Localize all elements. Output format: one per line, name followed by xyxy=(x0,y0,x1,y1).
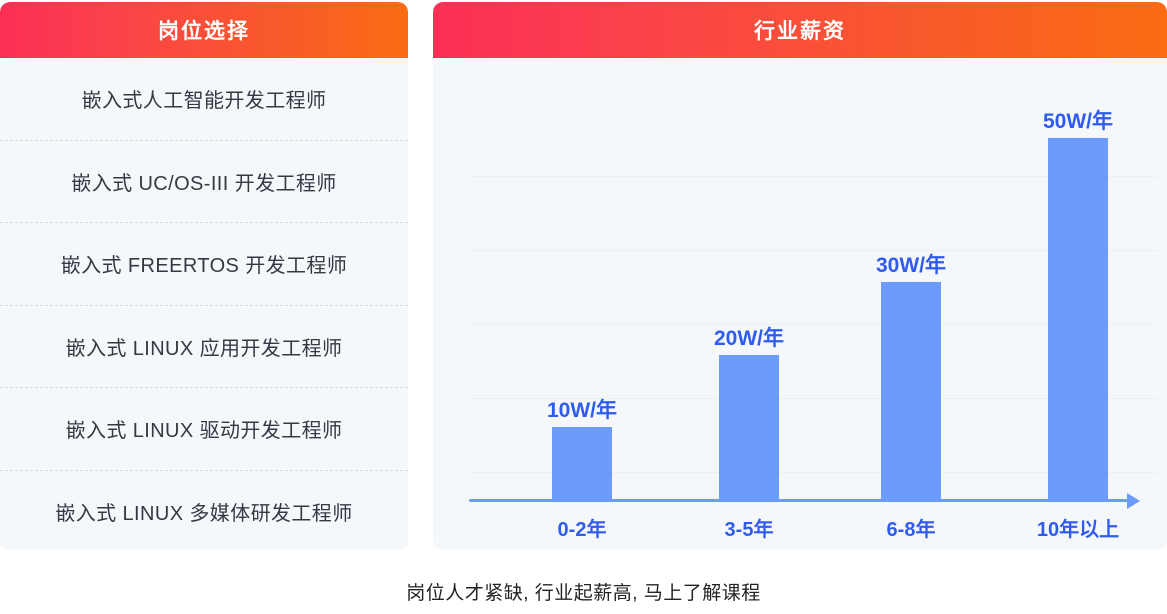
chart-bar[interactable] xyxy=(552,427,612,499)
jobs-panel-title: 岗位选择 xyxy=(158,15,250,45)
x-axis-category-label: 3-5年 xyxy=(674,513,824,542)
bar-value-label: 50W/年 xyxy=(1008,105,1148,135)
job-item-label: 嵌入式 FREERTOS 开发工程师 xyxy=(61,249,348,278)
bar-value-label: 10W/年 xyxy=(512,394,652,424)
job-item-label: 嵌入式 LINUX 驱动开发工程师 xyxy=(66,414,343,443)
promo-caption: 岗位人才紧缺, 行业起薪高, 马上了解课程 xyxy=(0,578,1167,605)
job-item-label: 嵌入式人工智能开发工程师 xyxy=(82,84,327,113)
list-item[interactable]: 嵌入式 UC/OS-III 开发工程师 xyxy=(0,141,408,224)
list-item[interactable]: 嵌入式 LINUX 驱动开发工程师 xyxy=(0,388,408,471)
bar-value-label: 30W/年 xyxy=(841,249,981,279)
job-item-label: 嵌入式 LINUX 应用开发工程师 xyxy=(66,332,343,361)
list-item[interactable]: 嵌入式 LINUX 多媒体研发工程师 xyxy=(0,471,408,551)
salary-chart-title: 行业薪资 xyxy=(754,15,846,45)
x-axis-category-label: 0-2年 xyxy=(507,513,657,542)
salary-chart-header: 行业薪资 xyxy=(433,2,1167,58)
chart-bar[interactable] xyxy=(881,282,941,499)
salary-chart-panel: 行业薪资 10W/年0-2年20W/年3-5年30W/年6-8年50W/年10年… xyxy=(433,2,1167,550)
x-axis-arrow-icon xyxy=(1127,493,1140,509)
list-item[interactable]: 嵌入式人工智能开发工程师 xyxy=(0,58,408,141)
x-axis-line xyxy=(469,499,1129,502)
job-item-label: 嵌入式 UC/OS-III 开发工程师 xyxy=(71,167,336,196)
chart-bar[interactable] xyxy=(1048,138,1108,499)
job-item-label: 嵌入式 LINUX 多媒体研发工程师 xyxy=(55,497,352,526)
job-list: 嵌入式人工智能开发工程师 嵌入式 UC/OS-III 开发工程师 嵌入式 FRE… xyxy=(0,58,408,550)
salary-bar-chart: 10W/年0-2年20W/年3-5年30W/年6-8年50W/年10年以上 xyxy=(433,58,1167,550)
chart-bar[interactable] xyxy=(719,355,779,499)
list-item[interactable]: 嵌入式 LINUX 应用开发工程师 xyxy=(0,306,408,389)
x-axis-category-label: 6-8年 xyxy=(836,513,986,542)
list-item[interactable]: 嵌入式 FREERTOS 开发工程师 xyxy=(0,223,408,306)
x-axis-category-label: 10年以上 xyxy=(1003,513,1153,542)
jobs-panel: 岗位选择 嵌入式人工智能开发工程师 嵌入式 UC/OS-III 开发工程师 嵌入… xyxy=(0,2,408,550)
bar-value-label: 20W/年 xyxy=(679,322,819,352)
jobs-panel-header: 岗位选择 xyxy=(0,2,408,58)
promo-panel-page: 岗位选择 嵌入式人工智能开发工程师 嵌入式 UC/OS-III 开发工程师 嵌入… xyxy=(0,0,1167,614)
